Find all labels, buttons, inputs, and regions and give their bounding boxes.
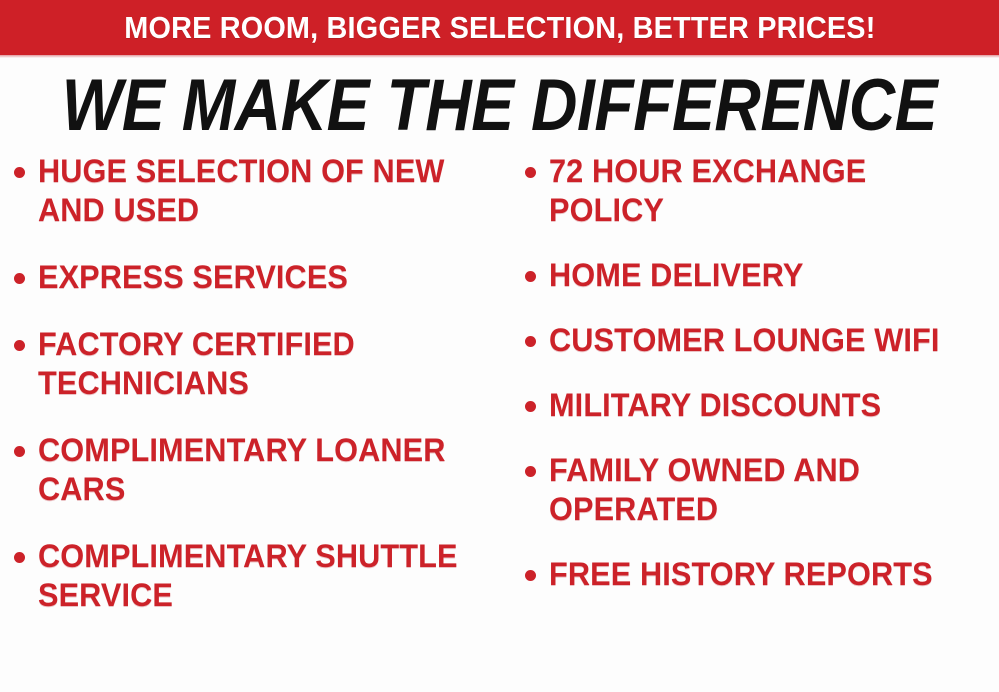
- list-item: HOME DELIVERY: [525, 256, 999, 295]
- bullet-dot-icon: [525, 336, 536, 347]
- list-item-label: COMPLIMENTARY SHUTTLE SERVICE: [38, 537, 486, 615]
- ribbon-drop-shadow: [0, 55, 999, 58]
- list-item-label: HOME DELIVERY: [549, 256, 803, 295]
- list-item-label: EXPRESS SERVICES: [38, 258, 348, 297]
- page-title: WE MAKE THE DIFFERENCE: [62, 69, 937, 142]
- bullet-dot-icon: [14, 340, 25, 351]
- list-item: MILITARY DISCOUNTS: [525, 386, 999, 425]
- dealership-advertisement-banner: MORE ROOM, BIGGER SELECTION, BETTER PRIC…: [0, 0, 999, 692]
- list-item: 72 HOUR EXCHANGE POLICY: [525, 152, 999, 230]
- list-item-label: COMPLIMENTARY LOANER CARS: [38, 431, 486, 509]
- top-promo-ribbon-text: MORE ROOM, BIGGER SELECTION, BETTER PRIC…: [124, 12, 875, 43]
- list-item-label: 72 HOUR EXCHANGE POLICY: [549, 152, 981, 230]
- list-item: FREE HISTORY REPORTS: [525, 555, 999, 594]
- list-item-label: MILITARY DISCOUNTS: [549, 386, 881, 425]
- list-item: EXPRESS SERVICES: [14, 258, 505, 297]
- bullet-dot-icon: [14, 552, 25, 563]
- headline-container: WE MAKE THE DIFFERENCE: [0, 62, 999, 148]
- list-item-label: CUSTOMER LOUNGE WIFI: [549, 321, 939, 360]
- feature-column-right: 72 HOUR EXCHANGE POLICY HOME DELIVERY CU…: [505, 152, 999, 620]
- list-item: CUSTOMER LOUNGE WIFI: [525, 321, 999, 360]
- list-item-label: HUGE SELECTION OF NEW AND USED: [38, 152, 486, 230]
- list-item-label: FAMILY OWNED AND OPERATED: [549, 451, 981, 529]
- list-item: FACTORY CERTIFIED TECHNICIANS: [14, 325, 505, 403]
- feature-columns: HUGE SELECTION OF NEW AND USED EXPRESS S…: [0, 152, 999, 692]
- feature-column-left: HUGE SELECTION OF NEW AND USED EXPRESS S…: [0, 152, 505, 643]
- top-promo-ribbon: MORE ROOM, BIGGER SELECTION, BETTER PRIC…: [0, 0, 999, 55]
- list-item-label: FACTORY CERTIFIED TECHNICIANS: [38, 325, 486, 403]
- list-item-label: FREE HISTORY REPORTS: [549, 555, 933, 594]
- bullet-dot-icon: [14, 167, 25, 178]
- list-item: COMPLIMENTARY SHUTTLE SERVICE: [14, 537, 505, 615]
- list-item: FAMILY OWNED AND OPERATED: [525, 451, 999, 529]
- bullet-dot-icon: [525, 570, 536, 581]
- bullet-dot-icon: [525, 271, 536, 282]
- bullet-dot-icon: [14, 273, 25, 284]
- bullet-dot-icon: [525, 401, 536, 412]
- list-item: HUGE SELECTION OF NEW AND USED: [14, 152, 505, 230]
- bullet-dot-icon: [14, 446, 25, 457]
- bullet-dot-icon: [525, 466, 536, 477]
- list-item: COMPLIMENTARY LOANER CARS: [14, 431, 505, 509]
- bullet-dot-icon: [525, 167, 536, 178]
